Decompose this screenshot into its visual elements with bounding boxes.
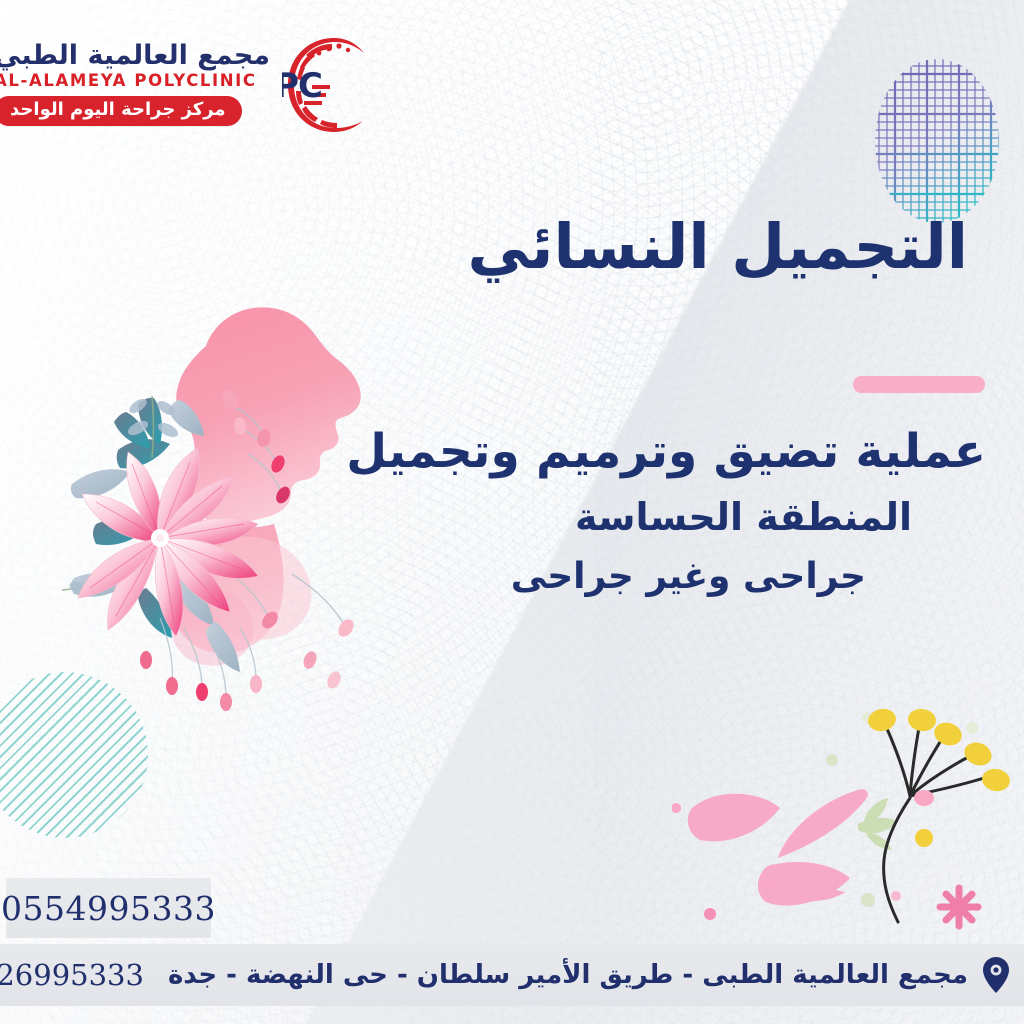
headline-block: التجميل النسائي bbox=[328, 212, 968, 281]
brand-logo-text: مجمع العالمية الطبي AL-ALAMEYA POLYCLINI… bbox=[0, 42, 270, 128]
footer-contact-bar: مجمع العالمية الطبى - طريق الأمير سلطان … bbox=[0, 944, 1024, 1006]
svg-text:APC: APC bbox=[282, 66, 322, 106]
grid-circle-decoration bbox=[873, 52, 1011, 230]
subheadline-line-2: المنطقة الحساسة bbox=[306, 494, 912, 542]
page-title: التجميل النسائي bbox=[328, 212, 968, 281]
brand-name-arabic: مجمع العالمية الطبي bbox=[0, 42, 270, 70]
brand-tagline-badge: مركز جراحة اليوم الواحد bbox=[0, 96, 242, 126]
apc-globe-crescent-icon: APC bbox=[282, 33, 386, 137]
subheadline-line-3: جراحى وغير جراحى bbox=[306, 554, 866, 599]
botanical-butterfly-dandelion-illustration bbox=[672, 688, 1024, 940]
footer-address: مجمع العالمية الطبى - طريق الأمير سلطان … bbox=[168, 962, 968, 988]
phone-primary-value: 0554995333 bbox=[1, 889, 216, 928]
phone-secondary-value[interactable]: 0126995333 bbox=[0, 958, 144, 992]
subheadline-block: عملية تضيق وترميم وتجميل المنطقة الحساسة… bbox=[306, 424, 986, 599]
brand-name-english: AL-ALAMEYA POLYCLINIC bbox=[0, 72, 257, 90]
phone-primary-chip[interactable]: 0554995333 bbox=[6, 878, 211, 938]
brand-logo-block: APC مجمع العالمية الطبي AL-ALAMEYA POLYC… bbox=[26, 24, 386, 146]
pink-pill-accent bbox=[853, 376, 985, 393]
subheadline-line-1: عملية تضيق وترميم وتجميل bbox=[306, 424, 986, 480]
location-pin-icon bbox=[982, 957, 1010, 993]
poster-canvas: APC مجمع العالمية الطبي AL-ALAMEYA POLYC… bbox=[0, 0, 1024, 1024]
